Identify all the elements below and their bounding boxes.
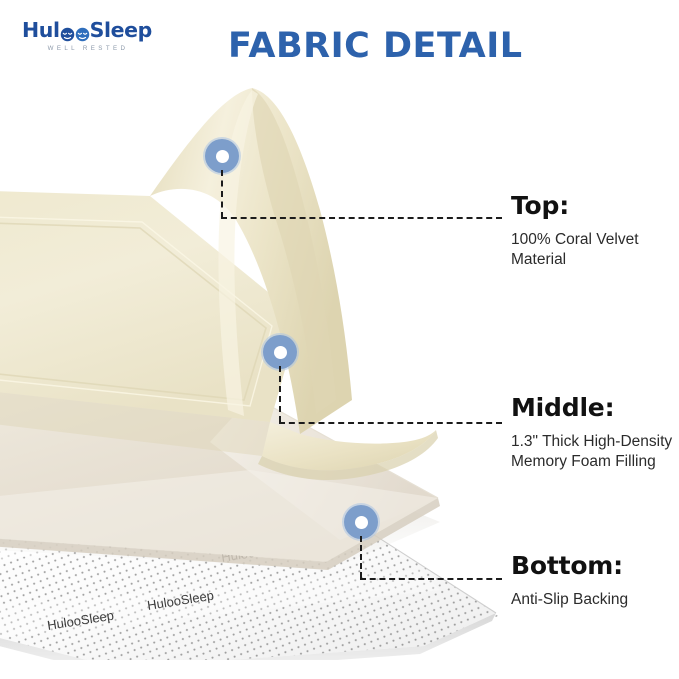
callout-top: Top: 100% Coral Velvet Material [511, 192, 679, 271]
leader-line-top-vertical [221, 170, 223, 218]
sleeping-face-icon-2 [75, 25, 90, 40]
infographic-page: Hul Sleep WELL RESTED FA [0, 0, 679, 679]
callout-dot-icon-middle[interactable] [263, 335, 297, 369]
sleeping-face-icon [60, 25, 75, 40]
callout-dot-icon-top[interactable] [205, 139, 239, 173]
callout-middle: Middle: 1.3" Thick High-Density Memory F… [511, 394, 679, 473]
callout-top-title: Top: [511, 192, 679, 221]
brand-name-suffix: Sleep [90, 20, 152, 41]
leader-line-bottom-horizontal [360, 578, 502, 580]
callout-dot-hole [274, 346, 287, 359]
callout-bottom-description: Anti-Slip Backing [511, 590, 679, 611]
page-title: FABRIC DETAIL [228, 26, 523, 66]
callout-middle-description: 1.3" Thick High-Density Memory Foam Fill… [511, 432, 679, 473]
callout-bottom: Bottom: Anti-Slip Backing [511, 552, 679, 610]
leader-line-middle-vertical [279, 366, 281, 422]
brand-tagline: WELL RESTED [24, 45, 152, 52]
callout-bottom-title: Bottom: [511, 552, 679, 581]
brand-logo: Hul Sleep WELL RESTED [22, 20, 182, 64]
leader-line-middle-horizontal [279, 422, 502, 424]
callout-dot-hole [355, 516, 368, 529]
callout-middle-title: Middle: [511, 394, 679, 423]
brand-wordmark: Hul Sleep [22, 20, 182, 41]
leader-line-bottom-vertical [360, 536, 362, 578]
callout-dot-hole [216, 150, 229, 163]
product-illustration: HulooSleep HulooSleep HulooSleep HulooSl… [0, 70, 500, 660]
brand-name-prefix: Hul [22, 20, 60, 41]
leader-line-top-horizontal [221, 217, 502, 219]
callout-top-description: 100% Coral Velvet Material [511, 230, 679, 271]
callout-dot-icon-bottom[interactable] [344, 505, 378, 539]
